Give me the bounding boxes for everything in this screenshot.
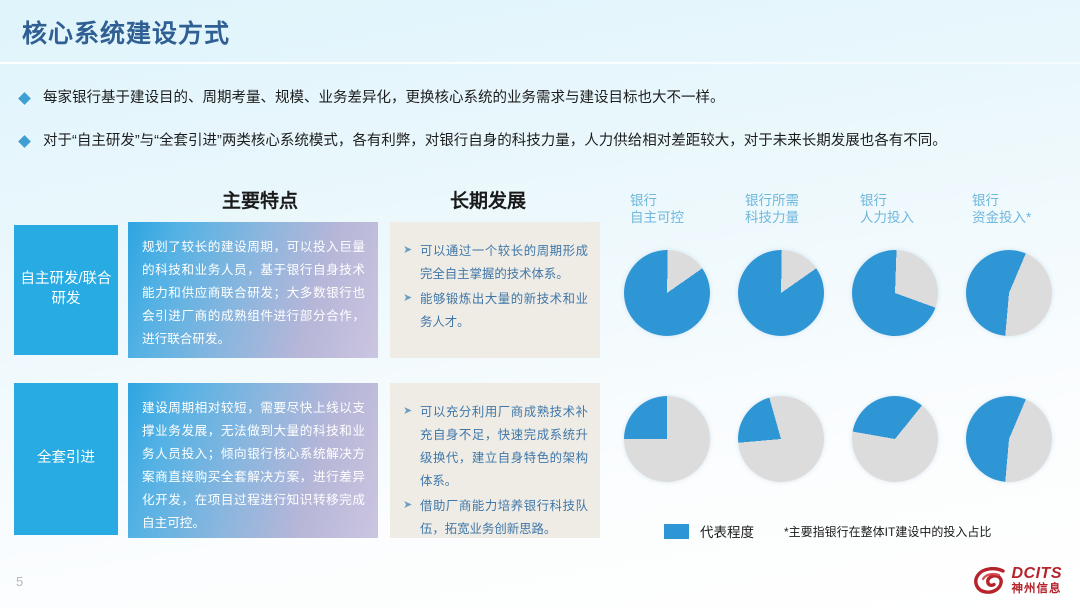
- pie-column-header-0: 银行 自主可控: [630, 192, 684, 227]
- slide-canvas: 核心系统建设方式 每家银行基于建设目的、周期考量、规模、业务差异化，更换核心系统…: [0, 0, 1080, 608]
- list-item: ➤ 借助厂商能力培养银行科技队伍，拓宽业务创新思路。: [400, 495, 588, 541]
- pie-column-header-3: 银行 资金投入*: [972, 192, 1031, 227]
- pie-chart-r1c0: [624, 396, 710, 482]
- list-item: ➤ 可以充分利用厂商成熟技术补充自身不足，快速完成系统升级换代，建立自身特色的架…: [400, 401, 588, 493]
- pie-header-line2: 资金投入*: [972, 209, 1031, 226]
- page-number: 5: [16, 574, 23, 589]
- column-header-long-term: 长期发展: [450, 186, 526, 213]
- pie-slice-group: [852, 250, 938, 336]
- pie-slice-group: [738, 396, 824, 482]
- arrow-bullet-icon: ➤: [400, 495, 420, 515]
- logo-name: DCITS: [1012, 566, 1063, 582]
- row-label-full-introduction: 全套引进: [14, 383, 118, 535]
- pie-chart-r1c3: [966, 396, 1052, 482]
- chart-legend: 代表程度 *主要指银行在整体IT建设中的投入占比: [664, 521, 991, 541]
- pie-header-line1: 银行: [972, 192, 1031, 209]
- pie-chart-r0c3: [966, 250, 1052, 336]
- arrow-bullet-icon: ➤: [400, 401, 420, 421]
- pie-slice-group: [966, 396, 1052, 482]
- pie-chart-r0c1: [738, 250, 824, 336]
- pie-slice-group: [624, 250, 710, 336]
- column-header-main-features: 主要特点: [222, 186, 298, 213]
- pie-column-header-2: 银行 人力投入: [860, 192, 914, 227]
- pie-slice-group: [624, 396, 710, 482]
- logo-text: DCITS 神州信息: [1012, 566, 1063, 596]
- title-divider: [0, 62, 1080, 64]
- pie-column-header-1: 银行所需 科技力量: [745, 192, 799, 227]
- longterm-cell-full-introduction: ➤ 可以充分利用厂商成熟技术补充自身不足，快速完成系统升级换代，建立自身特色的架…: [390, 383, 600, 538]
- list-item-text: 借助厂商能力培养银行科技队伍，拓宽业务创新思路。: [420, 495, 588, 541]
- arrow-bullet-icon: ➤: [400, 240, 420, 260]
- list-item: ➤ 可以通过一个较长的周期形成完全自主掌握的技术体系。: [400, 240, 588, 286]
- bullet-text: 对于“自主研发”与“全套引进”两类核心系统模式，各有利弊，对银行自身的科技力量，…: [43, 131, 947, 151]
- feature-cell-self-development: 规划了较长的建设周期，可以投入巨量的科技和业务人员，基于银行自身技术能力和供应商…: [128, 222, 378, 358]
- feature-cell-full-introduction: 建设周期相对较短，需要尽快上线以支撑业务发展，无法做到大量的科技和业务人员投入；…: [128, 383, 378, 538]
- page-title: 核心系统建设方式: [22, 14, 230, 50]
- row-label-self-development: 自主研发/联合研发: [14, 225, 118, 355]
- pie-header-line1: 银行: [630, 192, 684, 209]
- longterm-cell-self-development: ➤ 可以通过一个较长的周期形成完全自主掌握的技术体系。 ➤ 能够锻炼出大量的新技…: [390, 222, 600, 358]
- logo-subtitle: 神州信息: [1012, 584, 1063, 596]
- list-item-text: 能够锻炼出大量的新技术和业务人才。: [420, 288, 588, 334]
- legend-label: 代表程度: [700, 521, 754, 541]
- pie-header-line2: 人力投入: [860, 209, 914, 226]
- pie-header-line1: 银行所需: [745, 192, 799, 209]
- chart-footnote: *主要指银行在整体IT建设中的投入占比: [784, 523, 991, 540]
- list-item-text: 可以通过一个较长的周期形成完全自主掌握的技术体系。: [420, 240, 588, 286]
- list-item-text: 可以充分利用厂商成熟技术补充自身不足，快速完成系统升级换代，建立自身特色的架构体…: [420, 401, 588, 493]
- bullet-item: 对于“自主研发”与“全套引进”两类核心系统模式，各有利弊，对银行自身的科技力量，…: [20, 131, 947, 151]
- pie-chart-r1c2: [852, 396, 938, 482]
- pie-header-line1: 银行: [860, 192, 914, 209]
- pie-chart-r1c1: [738, 396, 824, 482]
- pie-header-line2: 自主可控: [630, 209, 684, 226]
- diamond-bullet-icon: [18, 135, 31, 148]
- pie-chart-r0c0: [624, 250, 710, 336]
- pie-slice-group: [966, 250, 1052, 336]
- bullet-item: 每家银行基于建设目的、周期考量、规模、业务差异化，更换核心系统的业务需求与建设目…: [20, 88, 725, 108]
- company-logo: DCITS 神州信息: [973, 566, 1063, 596]
- list-item: ➤ 能够锻炼出大量的新技术和业务人才。: [400, 288, 588, 334]
- pie-slice-group: [852, 396, 938, 482]
- diamond-bullet-icon: [18, 92, 31, 105]
- dcits-swirl-icon: [973, 567, 1007, 595]
- pie-chart-r0c2: [852, 250, 938, 336]
- legend-color-swatch: [664, 524, 689, 539]
- bullet-text: 每家银行基于建设目的、周期考量、规模、业务差异化，更换核心系统的业务需求与建设目…: [43, 88, 725, 108]
- pie-slice-group: [738, 250, 824, 336]
- arrow-bullet-icon: ➤: [400, 288, 420, 308]
- pie-header-line2: 科技力量: [745, 209, 799, 226]
